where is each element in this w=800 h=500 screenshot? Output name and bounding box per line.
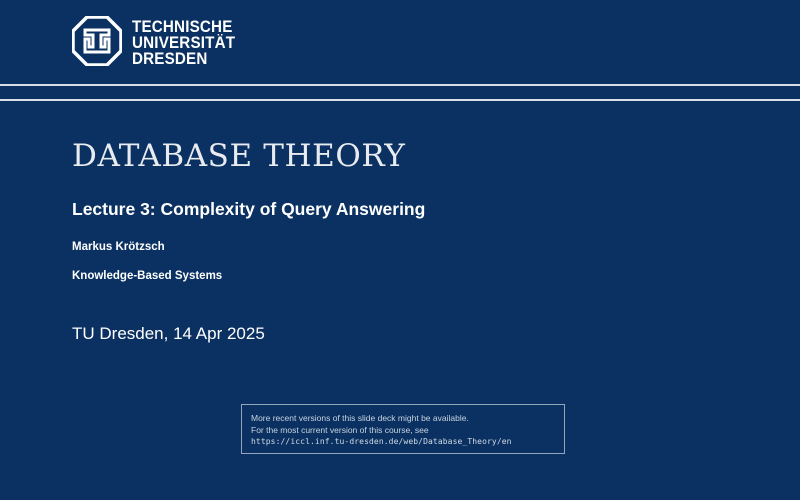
author-block: Markus Krötzsch Knowledge-Based Systems xyxy=(72,240,222,283)
page-subtitle: Lecture 3: Complexity of Query Answering xyxy=(72,198,425,220)
header-divider-upper xyxy=(0,84,800,86)
notice-line-2: For the most current version of this cou… xyxy=(251,424,564,436)
wordmark-line-technische: TECHNISCHE xyxy=(132,19,235,35)
header-divider-lower xyxy=(0,99,800,101)
tu-dresden-octagon-logo-icon xyxy=(72,16,122,66)
tu-dresden-logo: TECHNISCHE UNIVERSITÄT DRESDEN xyxy=(72,16,244,67)
venue-date: TU Dresden, 14 Apr 2025 xyxy=(72,323,265,345)
course-url-link[interactable]: https://iccl.inf.tu-dresden.de/web/Datab… xyxy=(251,436,564,448)
tu-dresden-wordmark: TECHNISCHE UNIVERSITÄT DRESDEN xyxy=(132,16,244,67)
version-notice-box: More recent versions of this slide deck … xyxy=(241,404,565,454)
author-name: Markus Krötzsch xyxy=(72,240,222,254)
wordmark-line-dresden: DRESDEN xyxy=(132,51,235,67)
slide-canvas: TECHNISCHE UNIVERSITÄT DRESDEN DATABASE … xyxy=(0,0,800,500)
notice-line-1: More recent versions of this slide deck … xyxy=(251,412,564,424)
author-affiliation: Knowledge-Based Systems xyxy=(72,269,222,283)
page-title: DATABASE THEORY xyxy=(72,138,405,174)
wordmark-line-universitaet: UNIVERSITÄT xyxy=(132,35,235,51)
